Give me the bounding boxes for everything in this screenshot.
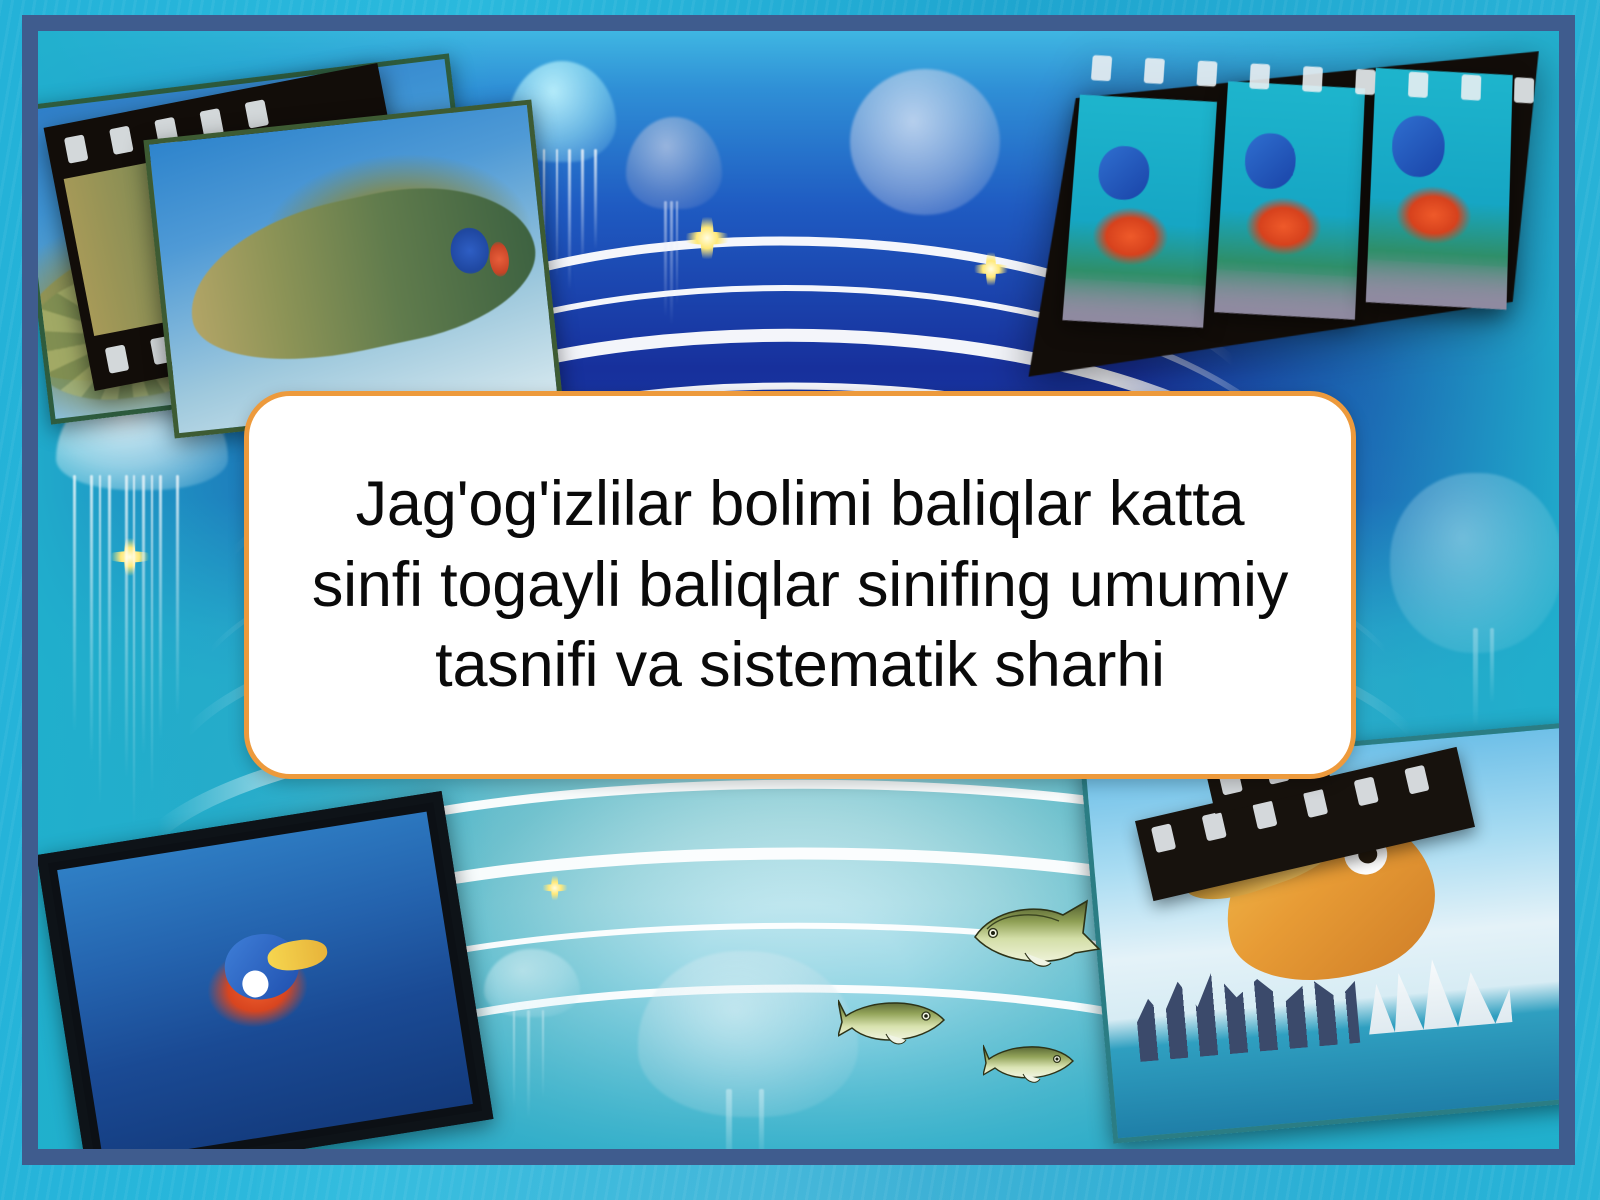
nemo-film-frame [1062,95,1217,328]
page-title: Jag'og'izlilar bolimi baliqlar katta sin… [276,464,1324,706]
jellyfish-bottom-left [484,949,580,1119]
slide-frame: Jag'og'izlilar bolimi baliqlar katta sin… [22,15,1575,1165]
slide-title-box: Jag'og'izlilar bolimi baliqlar katta sin… [244,391,1356,779]
jellyfish-top-round [850,69,1000,239]
fish-medium [838,986,952,1052]
title-line: sinfi togayli baliqlar sinifing umumiy [312,545,1288,626]
turtle-photo-secondary-panel [143,99,562,438]
nemo-film-frame [1366,68,1513,310]
title-line: tasnifi va sistematik sharhi [312,625,1288,706]
jellyfish-right [1390,473,1559,723]
nemo-filmstrip-panel [1023,51,1538,377]
sparkle-star-icon [678,209,736,267]
sparkle-star-icon [968,246,1014,292]
fish-small [983,1033,1079,1089]
jellyfish-top-b [626,117,722,317]
sparkle-star-icon [104,531,156,583]
title-line: Jag'og'izlilar bolimi baliqlar katta [312,464,1288,545]
jellyfish-left-large [56,381,228,771]
nemo-film-frame [1214,81,1365,319]
slide-root: Jag'og'izlilar bolimi baliqlar katta sin… [0,0,1600,1200]
slide-artwork-stage: Jag'og'izlilar bolimi baliqlar katta sin… [38,31,1559,1149]
nemo-screen-panel [38,791,493,1149]
sparkle-star-icon [538,871,572,905]
jellyfish-bottom-centre [638,951,858,1149]
fish-large [963,893,1103,979]
